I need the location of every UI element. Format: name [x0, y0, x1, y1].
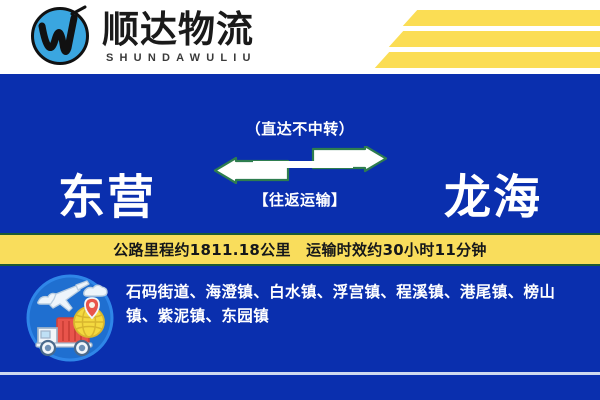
truck-plane-globe-icon: [26, 274, 114, 366]
route-note-top: （直达不中转）: [190, 118, 410, 139]
brand-logo: 顺达物流 SHUNDAWULIU: [28, 4, 257, 70]
banner-header: 顺达物流 SHUNDAWULIU: [0, 0, 600, 74]
stripe-3: [375, 52, 600, 68]
logo-swoosh-icon: [28, 4, 94, 70]
brand-name-en: SHUNDAWULIU: [102, 52, 257, 64]
bidirectional-arrow-icon: [190, 146, 410, 184]
coverage-towns-text: 石码街道、海澄镇、白水镇、浮宫镇、程溪镇、港尾镇、榜山镇、紫泥镇、东园镇: [126, 280, 578, 328]
route-section: 东营 龙海 （直达不中转） 【往返运输】: [0, 74, 600, 232]
brand-text: 顺达物流 SHUNDAWULIU: [102, 11, 257, 64]
distance-duration-bar: 公路里程约1811.18公里 运输时效约30小时11分钟: [0, 233, 600, 266]
route-note-bottom: 【往返运输】: [190, 189, 410, 210]
distance-duration-text: 公路里程约1811.18公里 运输时效约30小时11分钟: [113, 239, 486, 260]
logistics-route-banner: 顺达物流 SHUNDAWULIU 东营 龙海 （直达不中转） 【往返运输】 公路…: [0, 0, 600, 400]
coverage-section: 石码街道、海澄镇、白水镇、浮宫镇、程溪镇、港尾镇、榜山镇、紫泥镇、东园镇: [0, 266, 600, 373]
route-middle: （直达不中转） 【往返运输】: [190, 74, 410, 210]
brand-name-cn: 顺达物流: [102, 11, 257, 48]
stripe-1: [403, 10, 600, 26]
circle-w-swoosh-logo-icon: [28, 4, 94, 70]
destination-city: 龙海: [444, 175, 542, 222]
decorative-stripes: [300, 0, 600, 74]
stripe-2: [389, 31, 600, 47]
bottom-fill: [0, 375, 600, 400]
origin-city: 东营: [58, 175, 156, 222]
